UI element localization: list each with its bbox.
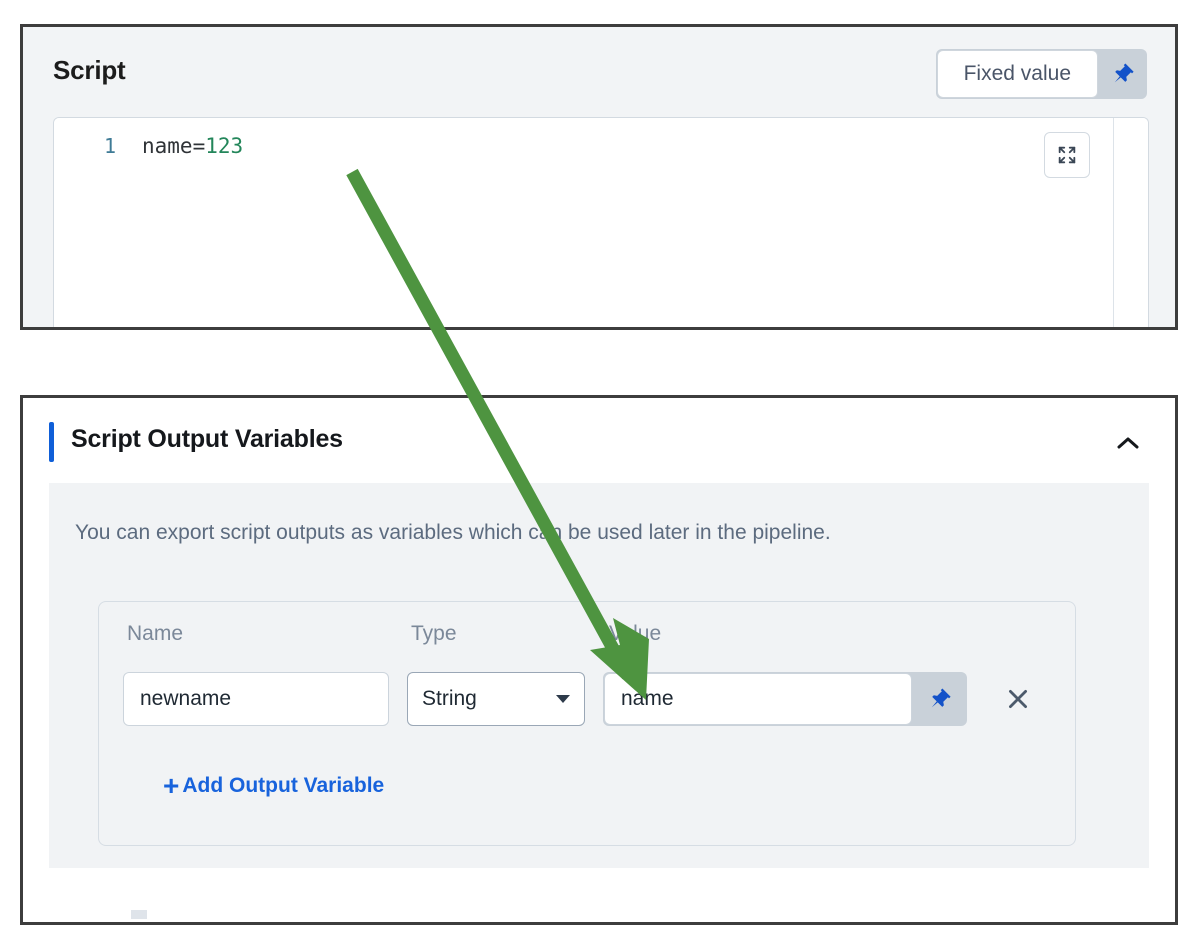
column-headers: Name Type Value <box>99 622 1075 656</box>
script-panel: Script Fixed value 1 name=123 <box>20 24 1178 330</box>
fixed-value-button[interactable]: Fixed value <box>937 50 1098 98</box>
variable-value-input[interactable]: name <box>604 673 912 725</box>
close-icon[interactable] <box>991 672 1045 726</box>
output-variables-card: Name Type Value newname String name <box>98 601 1076 846</box>
editor-scrollbar[interactable] <box>1113 118 1148 327</box>
column-header-type: Type <box>411 622 457 646</box>
variable-value-group: name <box>603 672 967 726</box>
add-output-variable-button[interactable]: + Add Output Variable <box>163 772 384 800</box>
script-panel-header: Script Fixed value <box>23 27 1175 119</box>
variable-type-select[interactable]: String <box>407 672 585 726</box>
code-token-identifier: name= <box>142 134 205 158</box>
code-editor[interactable]: 1 name=123 <box>53 117 1149 327</box>
section-title: Script Output Variables <box>71 425 343 454</box>
section-accent-bar <box>49 422 54 462</box>
fixed-value-control-group: Fixed value <box>936 49 1147 99</box>
screenshot-root: Script Fixed value 1 name=123 <box>0 0 1198 950</box>
expand-icon[interactable] <box>1044 132 1090 178</box>
pin-icon[interactable] <box>1099 49 1147 99</box>
code-token-number: 123 <box>205 134 243 158</box>
page-title: Script <box>53 55 125 86</box>
plus-icon: + <box>163 772 179 800</box>
script-output-variables-panel: Script Output Variables You can export s… <box>20 395 1178 925</box>
section-description: You can export script outputs as variabl… <box>75 521 831 545</box>
table-row: newname String name <box>99 672 1075 726</box>
section-body: You can export script outputs as variabl… <box>49 483 1149 868</box>
add-output-variable-label: Add Output Variable <box>182 774 384 798</box>
editor-gutter: 1 <box>54 118 126 327</box>
pin-icon[interactable] <box>913 672 967 726</box>
chevron-up-icon[interactable] <box>1111 428 1145 458</box>
variable-name-input[interactable]: newname <box>123 672 389 726</box>
editor-code-line: name=123 <box>142 134 243 158</box>
section-header[interactable]: Script Output Variables <box>23 398 1175 483</box>
column-header-value: Value <box>609 622 661 646</box>
column-header-name: Name <box>127 622 183 646</box>
editor-line-number: 1 <box>104 134 116 158</box>
variable-type-value: String <box>422 687 477 711</box>
truncated-element-stub <box>131 910 147 919</box>
chevron-down-icon <box>556 695 570 703</box>
